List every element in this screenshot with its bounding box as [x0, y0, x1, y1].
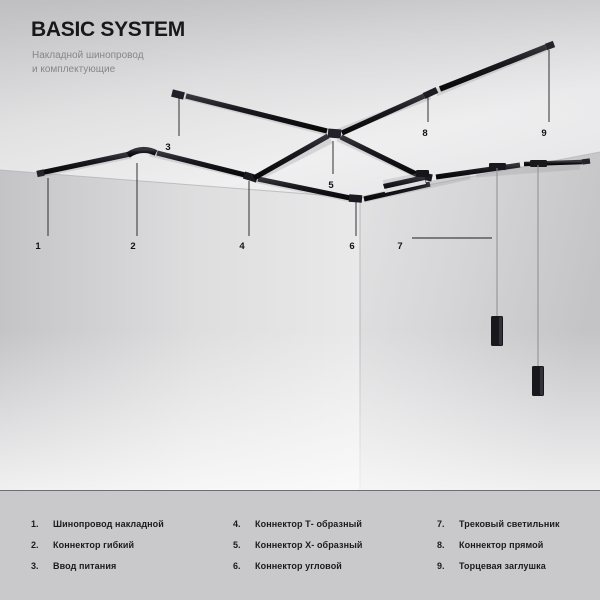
legend-item-number: 7.: [437, 519, 459, 529]
callout-number-1: 1: [35, 241, 40, 252]
legend-item-5: 5.Коннектор X- образный: [233, 540, 363, 561]
callout-number-3: 3: [165, 142, 170, 153]
legend-item-label: Коннектор гибкий: [53, 540, 134, 550]
floor-glow: [0, 330, 600, 490]
product-infographic-page: BASIC SYSTEM Накладной шинопровод и комп…: [0, 0, 600, 600]
legend-item-label: Коннектор Т- образный: [255, 519, 362, 529]
callout-number-7: 7: [397, 241, 402, 252]
callout-number-6: 6: [349, 241, 354, 252]
legend-item-label: Коннектор X- образный: [255, 540, 363, 550]
header: BASIC SYSTEM Накладной шинопровод и комп…: [31, 18, 185, 77]
luminaire-mount: [416, 170, 429, 177]
legend-item-number: 1.: [31, 519, 53, 529]
legend-column-3: 7.Трековый светильник8.Коннектор прямой9…: [437, 519, 560, 582]
callout-number-2: 2: [130, 241, 135, 252]
power-feed: [172, 93, 184, 96]
pendant-fixture-right-highlight: [540, 367, 543, 395]
callout-number-8: 8: [422, 128, 427, 139]
page-title: BASIC SYSTEM: [31, 18, 185, 42]
corner-connector: [349, 198, 362, 199]
legend-item-number: 3.: [31, 561, 53, 571]
end-cap-left: [37, 173, 44, 175]
legend-item-label: Коннектор угловой: [255, 561, 342, 571]
legend-item-number: 6.: [233, 561, 255, 571]
legend-item-label: Трековый светильник: [459, 519, 560, 529]
end-cap-right: [582, 161, 590, 162]
legend-item-label: Торцевая заглушка: [459, 561, 546, 571]
callout-number-4: 4: [239, 241, 244, 252]
legend-item-number: 5.: [233, 540, 255, 550]
legend-item-number: 8.: [437, 540, 459, 550]
legend-item-4: 4.Коннектор Т- образный: [233, 519, 363, 540]
legend-item-1: 1.Шинопровод накладной: [31, 519, 164, 540]
legend-panel: 1.Шинопровод накладной2.Коннектор гибкий…: [0, 490, 600, 600]
legend-item-7: 7.Трековый светильник: [437, 519, 560, 540]
legend-item-number: 9.: [437, 561, 459, 571]
legend-item-label: Коннектор прямой: [459, 540, 543, 550]
pendant-fixture-left-highlight: [499, 317, 502, 345]
legend-item-2: 2.Коннектор гибкий: [31, 540, 164, 561]
legend-item-label: Ввод питания: [53, 561, 116, 571]
callout-number-5: 5: [328, 180, 333, 191]
legend-item-6: 6.Коннектор угловой: [233, 561, 363, 582]
legend-column-2: 4.Коннектор Т- образный5.Коннектор X- об…: [233, 519, 363, 582]
legend-item-8: 8.Коннектор прямой: [437, 540, 560, 561]
legend-item-9: 9.Торцевая заглушка: [437, 561, 560, 582]
callout-number-9: 9: [541, 128, 546, 139]
x-connector: [328, 133, 341, 134]
legend-item-label: Шинопровод накладной: [53, 519, 164, 529]
legend-column-1: 1.Шинопровод накладной2.Коннектор гибкий…: [31, 519, 164, 582]
legend-item-3: 3.Ввод питания: [31, 561, 164, 582]
end-cap-top-right: [546, 44, 554, 47]
page-subtitle: Накладной шинопровод и комплектующие: [32, 49, 185, 77]
legend-item-number: 4.: [233, 519, 255, 529]
legend-item-number: 2.: [31, 540, 53, 550]
